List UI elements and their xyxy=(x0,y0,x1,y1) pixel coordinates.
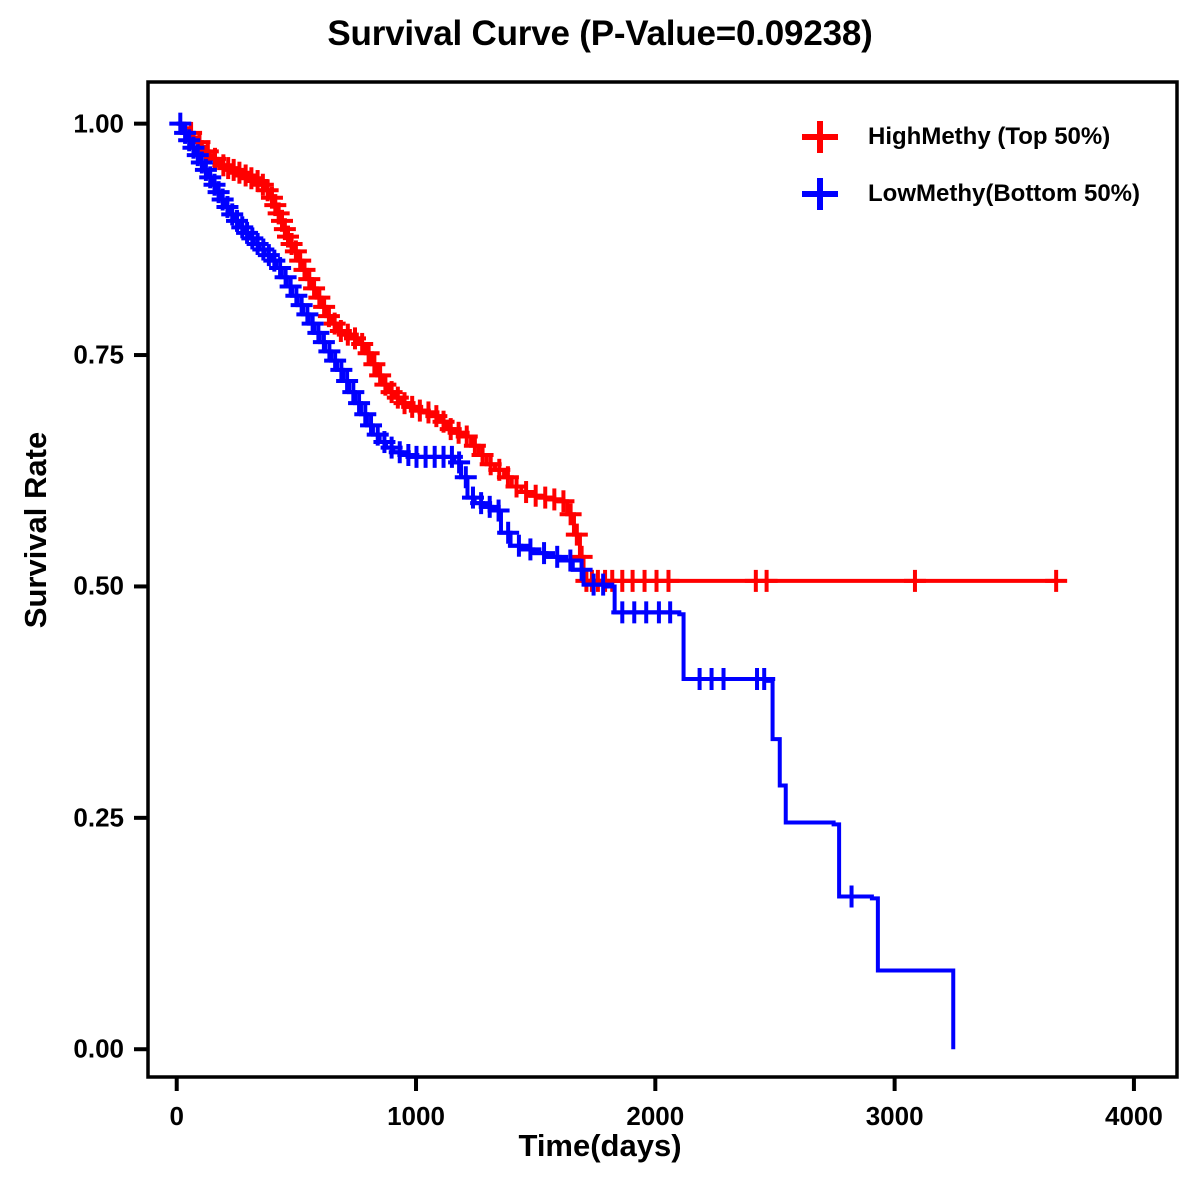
survival-curve-figure: Survival Curve (P-Value=0.09238) Surviva… xyxy=(0,0,1200,1200)
y-tick-label: 0.75 xyxy=(0,340,124,371)
legend-entry-1 xyxy=(802,178,838,210)
legend-entry-0 xyxy=(802,121,838,153)
x-tick-label: 2000 xyxy=(626,1101,684,1132)
y-tick-label: 0.00 xyxy=(0,1034,124,1065)
x-tick-label: 3000 xyxy=(866,1101,924,1132)
legend-label: LowMethy(Bottom 50%) xyxy=(868,180,1140,208)
x-axis-label: Time(days) xyxy=(0,1128,1200,1164)
y-tick-label: 0.25 xyxy=(0,802,124,833)
x-tick-label: 4000 xyxy=(1105,1101,1163,1132)
y-tick-label: 0.50 xyxy=(0,571,124,602)
y-tick-label: 1.00 xyxy=(0,108,124,139)
x-tick-label: 1000 xyxy=(387,1101,445,1132)
x-tick-label: 0 xyxy=(169,1101,183,1132)
legend-label: HighMethy (Top 50%) xyxy=(868,123,1110,151)
